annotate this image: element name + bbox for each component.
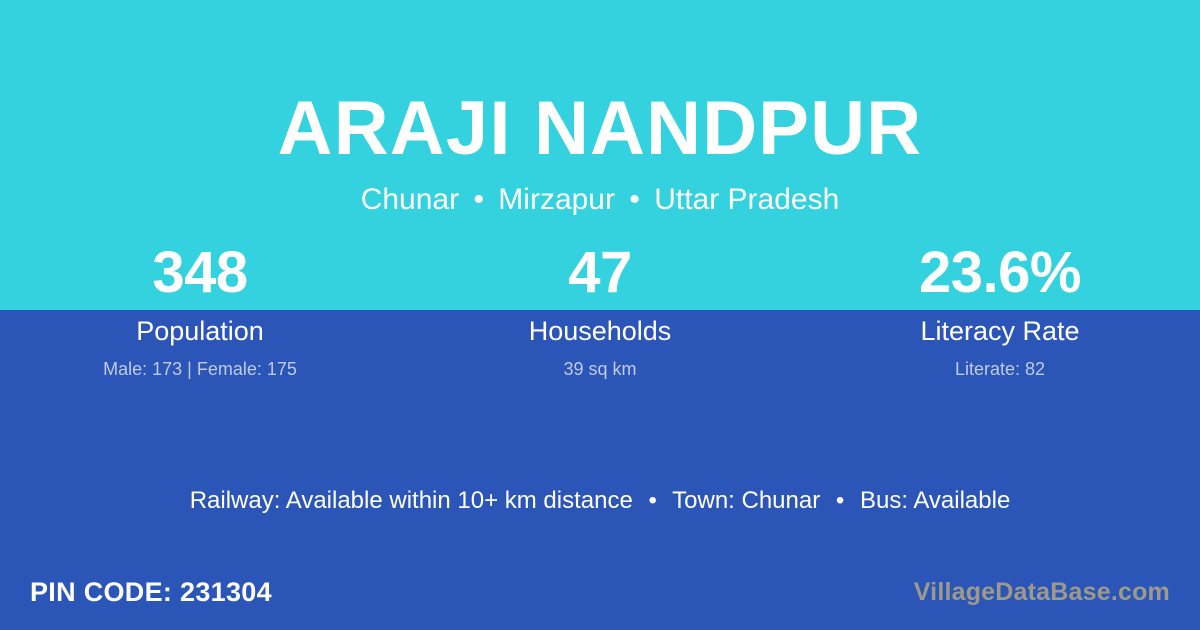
card-footer: PIN CODE: 231304 VillageDataBase.com — [0, 560, 1200, 630]
stat-sublabel: Literate: 82 — [800, 357, 1200, 381]
amenity-separator-2: • — [827, 487, 853, 514]
stat-literacy-rate: 23.6% Literacy Rate Literate: 82 — [800, 240, 1200, 381]
location-breadcrumb: Chunar • Mirzapur • Uttar Pradesh — [0, 182, 1200, 218]
amenity-separator-1: • — [640, 487, 666, 514]
stat-value: 23.6% — [800, 240, 1200, 310]
breadcrumb-district: Mirzapur — [498, 183, 615, 216]
stat-label: Households — [400, 314, 800, 348]
stat-label: Literacy Rate — [800, 314, 1200, 348]
amenity-railway: Railway: Available within 10+ km distanc… — [190, 487, 633, 514]
village-info-card: ARAJI NANDPUR Chunar • Mirzapur • Uttar … — [0, 0, 1200, 630]
stat-label: Population — [0, 314, 400, 348]
site-brand: VillageDataBase.com — [914, 576, 1170, 608]
stat-value: 348 — [0, 240, 400, 310]
breadcrumb-separator-2: • — [623, 183, 646, 216]
breadcrumb-block: Chunar — [361, 183, 459, 216]
amenity-bus: Bus: Available — [860, 487, 1010, 514]
amenities-line: Railway: Available within 10+ km distanc… — [0, 485, 1200, 517]
stat-households: 47 Households 39 sq km — [400, 240, 800, 381]
stat-sublabel: Male: 173 | Female: 175 — [0, 357, 400, 381]
stat-sublabel: 39 sq km — [400, 357, 800, 381]
amenity-town: Town: Chunar — [672, 487, 820, 514]
breadcrumb-separator-1: • — [467, 183, 490, 216]
stat-population: 348 Population Male: 173 | Female: 175 — [0, 240, 400, 381]
breadcrumb-state: Uttar Pradesh — [654, 183, 839, 216]
stat-value: 47 — [400, 240, 800, 310]
pin-code: PIN CODE: 231304 — [30, 575, 272, 609]
stats-row: 348 Population Male: 173 | Female: 175 4… — [0, 240, 1200, 381]
page-title: ARAJI NANDPUR — [0, 82, 1200, 176]
